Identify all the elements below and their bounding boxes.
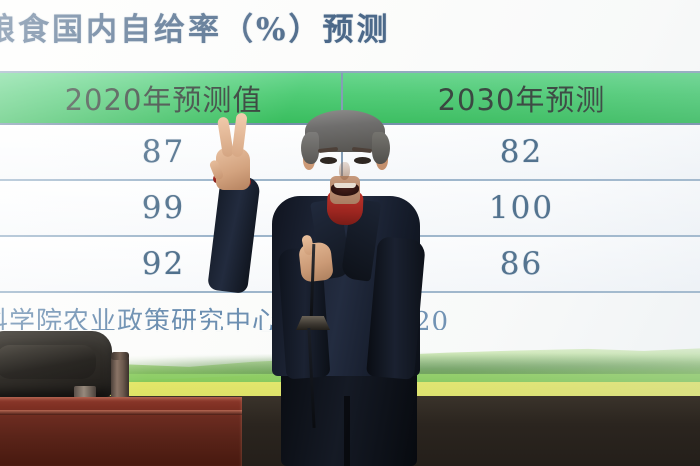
nose [339,162,350,180]
presentation-photo: 粮食国内自给率（%）预测 2020年预测值 2030年预测 87 82 [0,0,700,466]
hair-side-left [301,132,319,164]
teeth [334,183,356,188]
presenter [0,0,700,466]
presenter-raised-arm [207,174,261,294]
eye-right [354,157,371,164]
eye-left [320,157,337,164]
hair-side-right [372,132,390,164]
presenter-leg-split [344,396,350,466]
